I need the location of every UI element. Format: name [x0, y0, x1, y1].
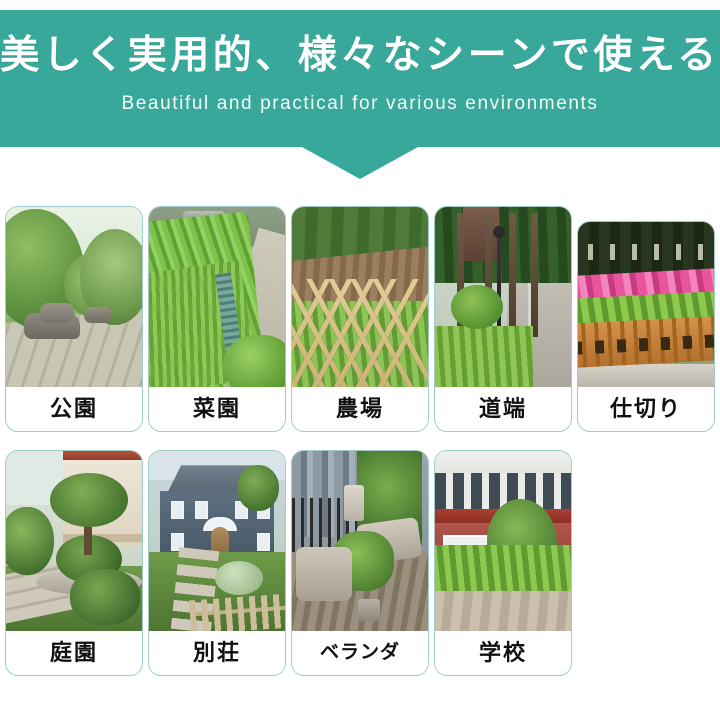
scene-label-vegetable-garden: 菜園 — [149, 387, 285, 431]
scene-label-park: 公園 — [6, 387, 142, 431]
scene-card-row-1: 公園 菜園 — [0, 206, 720, 432]
scene-card-vegetable-garden[interactable]: 菜園 — [148, 206, 286, 432]
banner-subtitle-english: Beautiful and practical for various envi… — [0, 93, 720, 115]
scene-label-roadside: 道端 — [435, 387, 571, 431]
scene-label-garden: 庭園 — [6, 631, 142, 675]
scene-card-grid: 公園 菜園 — [0, 206, 720, 676]
scene-card-divider[interactable]: 仕切り — [577, 221, 715, 432]
scene-image-vegetable-garden — [149, 207, 285, 387]
banner-title-japanese: 美しく実用的、様々なシーンで使える — [0, 34, 720, 79]
scene-label-farm: 農場 — [292, 387, 428, 431]
scene-label-school: 学校 — [435, 631, 571, 675]
scene-card-school[interactable]: 学校 — [434, 450, 572, 676]
scene-image-villa — [149, 451, 285, 631]
top-white-strip — [0, 0, 720, 10]
scene-card-park[interactable]: 公園 — [5, 206, 143, 432]
scene-image-school — [435, 451, 571, 631]
scene-label-villa: 別荘 — [149, 631, 285, 675]
scene-image-roadside — [435, 207, 571, 387]
banner-down-arrow-icon — [302, 147, 418, 179]
scene-card-balcony[interactable]: ベランダ — [291, 450, 429, 676]
scene-card-garden[interactable]: 庭園 — [5, 450, 143, 676]
scene-image-farm — [292, 207, 428, 387]
scene-card-roadside[interactable]: 道端 — [434, 206, 572, 432]
header-banner: 美しく実用的、様々なシーンで使える Beautiful and practica… — [0, 10, 720, 147]
scene-image-garden — [6, 451, 142, 631]
scene-label-divider: 仕切り — [578, 387, 714, 431]
scene-card-farm[interactable]: 農場 — [291, 206, 429, 432]
scene-card-row-2: 庭園 別荘 — [0, 450, 720, 676]
scene-label-balcony: ベランダ — [292, 631, 428, 675]
scene-image-divider — [578, 222, 714, 387]
scene-image-park — [6, 207, 142, 387]
scene-card-villa[interactable]: 別荘 — [148, 450, 286, 676]
scene-image-balcony — [292, 451, 428, 631]
